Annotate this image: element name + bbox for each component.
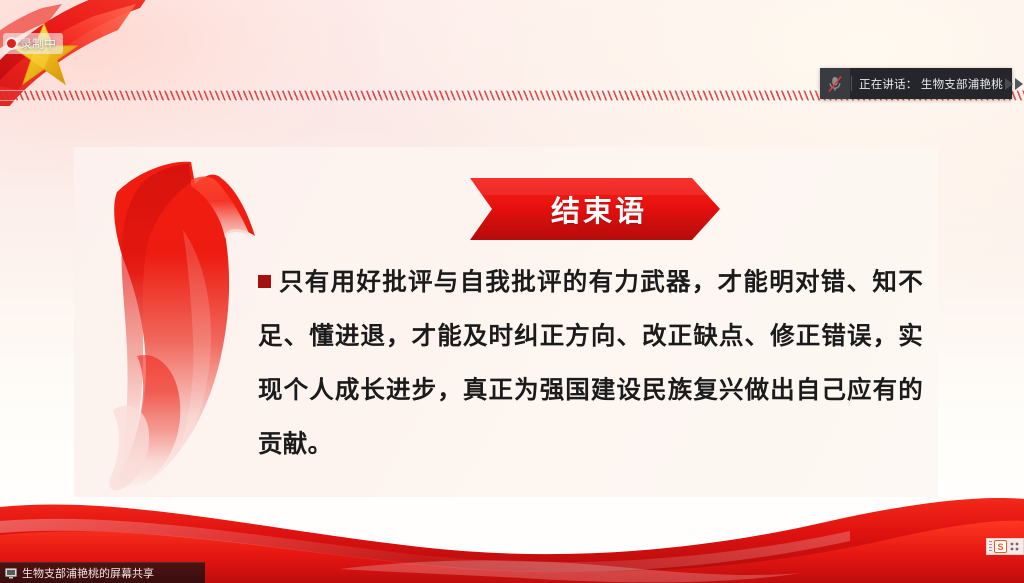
presentation-slide: 录制中 正在讲话： 生物支部浦艳桃 [0, 0, 1024, 583]
monitor-share-icon [5, 568, 17, 579]
show-hidden-icons-icon[interactable] [989, 541, 992, 552]
record-dot-icon [7, 39, 16, 48]
speaking-divider [851, 76, 852, 91]
speaking-indicator[interactable]: 正在讲话： 生物支部浦艳桃 [820, 68, 1012, 99]
taskbar-share-label: 生物支部浦艳桃的屏幕共享 [22, 565, 154, 581]
square-bullet-icon [258, 275, 271, 288]
recording-label: 录制中 [20, 35, 56, 52]
tray-extra-icon[interactable] [1009, 541, 1020, 552]
slide-body-paragraph: 只有用好批评与自我批评的有力武器，才能明对错、知不足、懂进退，才能及时纠正方向、… [258, 269, 923, 458]
slide-body-text: 只有用好批评与自我批评的有力武器，才能明对错、知不足、懂进退，才能及时纠正方向、… [258, 256, 923, 472]
gold-star-icon [10, 22, 78, 88]
audio-level-icon [1003, 75, 1024, 93]
page-title: 结束语 [470, 178, 720, 240]
wps-presentation-icon[interactable]: S [994, 540, 1007, 553]
speaking-label: 正在讲话： 生物支部浦艳桃 [859, 76, 1003, 92]
speaker-avatar [820, 68, 850, 99]
slide-title-banner: 结束语 [470, 178, 720, 240]
taskbar-share-window[interactable]: 生物支部浦艳桃的屏幕共享 [0, 562, 205, 583]
system-tray[interactable]: S [986, 538, 1024, 555]
recording-badge: 录制中 [3, 33, 63, 54]
microphone-muted-icon [827, 75, 843, 93]
svg-text:S: S [997, 542, 1003, 552]
